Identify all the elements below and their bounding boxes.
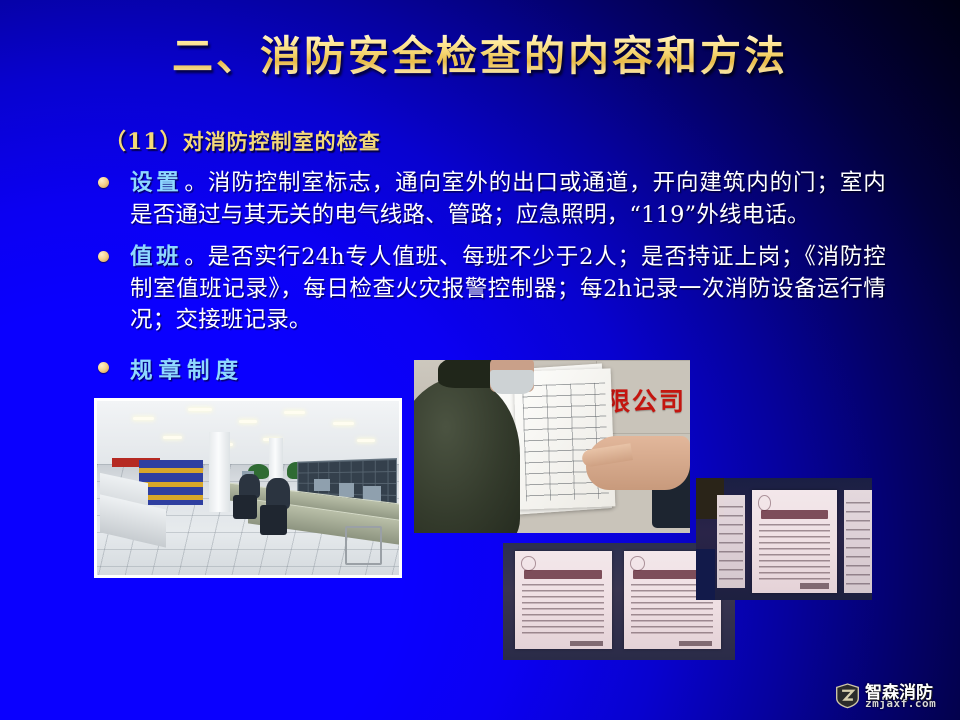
ceiling-light <box>188 408 212 411</box>
shield-z-logo-icon <box>834 682 861 709</box>
shelf-row <box>139 482 202 487</box>
document-body-text <box>719 506 743 582</box>
bullet-text: 值班。是否实行24h专人值班、每班不少于2人；是否持证上岗；《消防控制室值班记录… <box>130 242 886 337</box>
ceiling-light <box>239 420 257 423</box>
equipment-shelf <box>139 460 202 505</box>
section-subtitle: （11）对消防控制室的检查 <box>104 124 381 156</box>
photo-duty-logbook-inspection: 限公司 <box>414 360 690 533</box>
watermark-url: zmjaxf.com <box>865 697 936 710</box>
slide-canvas: 二、消防安全检查的内容和方法 （11）对消防控制室的检查 设置。消防控制室标志，… <box>0 0 960 720</box>
title-container: 二、消防安全检查的内容和方法 <box>0 34 960 80</box>
document-body-text <box>522 584 604 638</box>
ceiling-light <box>284 411 305 414</box>
structural-pillar <box>209 432 230 512</box>
ceiling-light <box>333 422 354 425</box>
bullet-item-settings: 设置。消防控制室标志，通向室外的出口或通道，开向建筑内的门；室内是否通过与其无关… <box>96 168 886 231</box>
ceiling <box>97 401 399 464</box>
watermark: 智森消防 zmjaxf.com <box>834 676 952 714</box>
office-chair <box>233 495 257 519</box>
regulation-document <box>515 551 612 649</box>
document-logo-icon <box>521 556 536 571</box>
wall-red-text: 限公司 <box>605 382 686 418</box>
monitor <box>339 483 354 497</box>
shelf-row <box>139 468 202 473</box>
bullet-keyword: 设置 <box>130 170 184 196</box>
regulation-document <box>752 490 836 592</box>
shelf-row <box>139 495 202 500</box>
subtitle-label: 对消防控制室的检查 <box>183 129 381 154</box>
bullet-dot-icon <box>98 251 109 262</box>
bullet-dot-icon <box>98 362 109 373</box>
regulation-document-partial <box>717 495 745 588</box>
document-body-text <box>759 524 830 580</box>
bullet-keyword: 值班 <box>130 244 184 270</box>
bullet-item-duty: 值班。是否实行24h专人值班、每班不少于2人；是否持证上岗；《消防控制室值班记录… <box>96 242 886 337</box>
document-title-bar <box>761 510 829 519</box>
document-footer-text <box>679 641 712 646</box>
folding-chair <box>345 526 382 565</box>
document-logo-icon <box>630 556 645 571</box>
ceiling-light <box>133 417 154 420</box>
bullet-dot-icon <box>98 177 109 188</box>
document-footer-text <box>570 641 603 646</box>
bullet-text: 设置。消防控制室标志，通向室外的出口或通道，开向建筑内的门；室内是否通过与其无关… <box>130 168 886 231</box>
subtitle-number: （11） <box>104 129 183 155</box>
face-mask <box>490 370 534 394</box>
photo-posted-regulations-right <box>696 478 872 600</box>
monitor <box>314 479 329 491</box>
document-body-text <box>846 502 870 586</box>
page-title: 二、消防安全检查的内容和方法 <box>166 34 794 80</box>
document-footer-text <box>800 583 829 588</box>
document-title-bar <box>524 570 602 579</box>
document-logo-icon <box>758 495 771 510</box>
ceiling-light <box>357 439 375 442</box>
blue-shadow-strip <box>696 549 715 600</box>
bullet-body: 。消防控制室标志，通向室外的出口或通道，开向建筑内的门；室内是否通过与其无关的电… <box>130 170 886 228</box>
ceiling-light <box>163 436 181 439</box>
operator-person <box>266 478 290 509</box>
photo-fire-control-room <box>94 398 402 578</box>
office-chair <box>260 505 287 535</box>
bullet-body: 。是否实行24h专人值班、每班不少于2人；是否持证上岗；《消防控制室值班记录》，… <box>130 244 886 333</box>
regulation-document-partial <box>844 490 872 592</box>
